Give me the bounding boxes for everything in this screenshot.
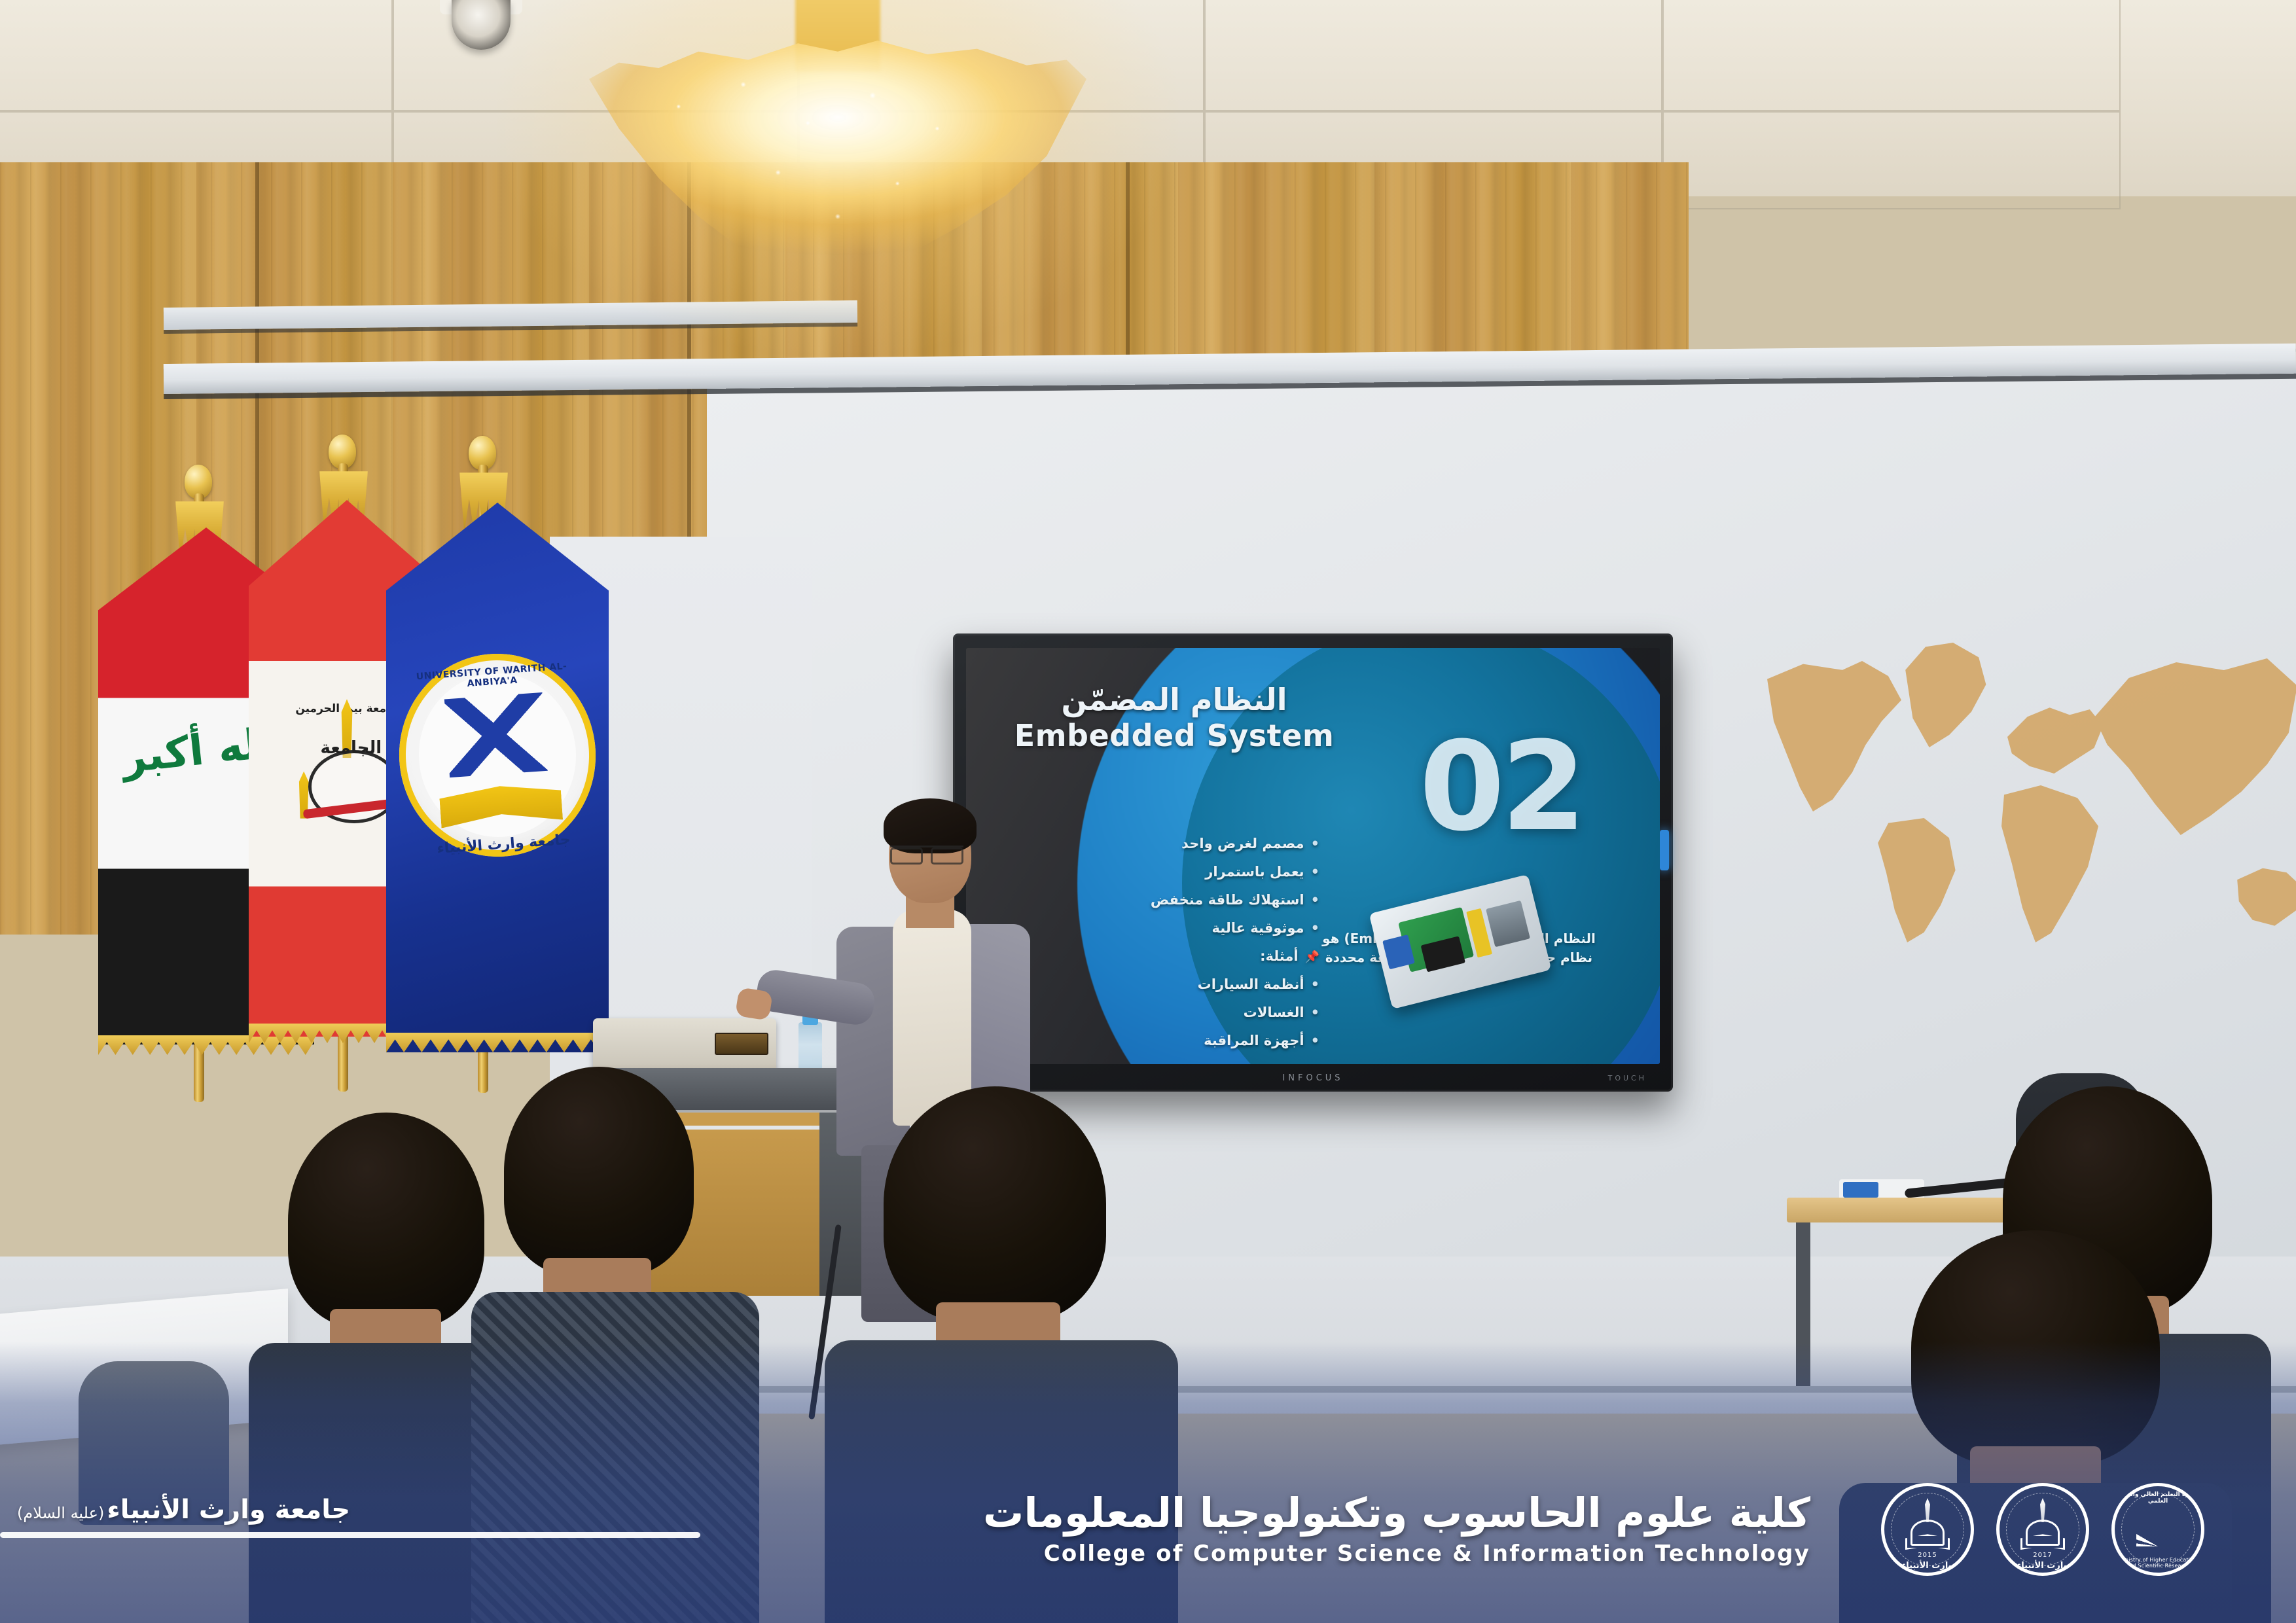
display-brand-label: INFOCUS TOUCH	[953, 1068, 1673, 1088]
slide-bullet: الغسالات	[1071, 1006, 1319, 1020]
display-brand-right: TOUCH	[1608, 1074, 1647, 1082]
watermark-university: جامعة وارث الأنبياء(عليه السلام)	[17, 1495, 350, 1525]
eyeglasses-icon	[890, 846, 963, 859]
ministry-emblem-label-en: Ministry of Higher Education and Scienti…	[2115, 1558, 2201, 1569]
interactive-display[interactable]: النظام المضمّن Embedded System 02 النظام…	[953, 633, 1673, 1092]
slide-bullet: أنظمة السيارات	[1071, 978, 1319, 991]
world-map-wall-decal	[1767, 609, 2296, 936]
presenter-laptop	[593, 1018, 776, 1072]
slide-bullet: أمثلة:	[1071, 950, 1319, 963]
flag-stand-group: الله أكبر جامعة بين الحرمين الجامعة	[98, 452, 635, 1106]
college-emblem-year: 2015	[1884, 1552, 1971, 1559]
flag-university-blue: UNIVERSITY OF WARITH AL-ANBIYA'A جامعة و…	[386, 452, 609, 1106]
lecture-hall-photo: الله أكبر جامعة بين الحرمين الجامعة	[0, 0, 2296, 1623]
brand-block: كلية علوم الحاسوب وتكنولوجيا المعلومات C…	[983, 1491, 1810, 1567]
brand-title-en: College of Computer Science & Informatio…	[983, 1541, 1810, 1567]
brand-title-ar: كلية علوم الحاسوب وتكنولوجيا المعلومات	[983, 1491, 1810, 1534]
slide-bullet: موثوقية عالية	[1071, 921, 1319, 935]
slide-title: النظام المضمّن Embedded System	[1004, 682, 1344, 753]
university-emblem-label: وارث الأنبياء	[2000, 1561, 2086, 1571]
watermark-university-sub: (عليه السلام)	[17, 1504, 104, 1522]
display-led-right	[1660, 830, 1669, 870]
university-crest: UNIVERSITY OF WARITH AL-ANBIYA'A جامعة و…	[393, 647, 603, 863]
watermark-university-main: جامعة وارث الأنبياء	[107, 1495, 350, 1525]
audience-member	[504, 1067, 713, 1623]
ministry-emblem-icon: وزارة التعليم العالي والبحث العلمي Minis…	[2111, 1483, 2204, 1576]
slide-bullet: يعمل باستمرار	[1071, 865, 1319, 879]
slide-bullet: أجهزة المراقبة	[1071, 1034, 1319, 1048]
display-brand-text: INFOCUS	[1282, 1073, 1343, 1083]
college-emblem-icon: 2015 وارث الأنبياء	[1881, 1483, 1974, 1576]
slide-bullet: استهلاك طاقة منخفض	[1071, 893, 1319, 907]
slide-canvas: النظام المضمّن Embedded System 02 النظام…	[966, 648, 1660, 1064]
slide-title-en: Embedded System	[1004, 719, 1344, 753]
logo-row: 2015 وارث الأنبياء 2017 وارث الأنبياء وز…	[1881, 1483, 2204, 1576]
slide-title-ar: النظام المضمّن	[1004, 682, 1344, 718]
slide-number: 02	[1419, 732, 1583, 842]
university-emblem-year: 2017	[2000, 1552, 2086, 1559]
slide-bullet: مصمم لغرض واحد	[1071, 837, 1319, 851]
watermark-rule	[0, 1532, 700, 1538]
audience-member	[288, 1113, 497, 1623]
university-emblem-icon: 2017 وارث الأنبياء	[1996, 1483, 2089, 1576]
ministry-emblem-label-ar: وزارة التعليم العالي والبحث العلمي	[2115, 1491, 2201, 1505]
college-emblem-label: وارث الأنبياء	[1884, 1561, 1971, 1571]
slide-bullet-list: مصمم لغرض واحديعمل باستمراراستهلاك طاقة …	[1071, 837, 1346, 1062]
crystal-chandelier	[589, 0, 1086, 301]
